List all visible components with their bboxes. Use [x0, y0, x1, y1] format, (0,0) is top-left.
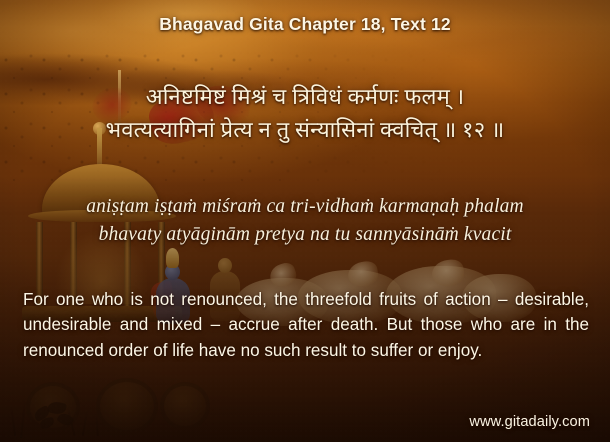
gita-verse-card: Bhagavad Gita Chapter 18, Text 12 अनिष्ट… — [0, 0, 610, 442]
sanskrit-verse-block: अनिष्टमिष्टं मिश्रं च त्रिविधं कर्मणः फल… — [0, 80, 610, 147]
transliteration-block: aniṣṭam iṣṭaṁ miśraṁ ca tri-vidhaṁ karma… — [0, 193, 610, 248]
transliteration-line-2: bhavaty atyāginām pretya na tu sannyāsin… — [0, 221, 610, 249]
sanskrit-line-2: भवत्यत्यागिनां प्रेत्य न तु संन्यासिनां … — [0, 113, 610, 146]
transliteration-line-1: aniṣṭam iṣṭaṁ miśraṁ ca tri-vidhaṁ karma… — [0, 193, 610, 221]
content-overlay: Bhagavad Gita Chapter 18, Text 12 अनिष्ट… — [0, 0, 610, 442]
site-url-label: www.gitadaily.com — [469, 414, 590, 430]
sanskrit-line-1: अनिष्टमिष्टं मिश्रं च त्रिविधं कर्मणः फल… — [0, 80, 610, 113]
translation-text: For one who is not renounced, the threef… — [23, 290, 589, 360]
translation-paragraph: For one who is not renounced, the threef… — [23, 287, 589, 363]
page-title: Bhagavad Gita Chapter 18, Text 12 — [0, 14, 610, 35]
